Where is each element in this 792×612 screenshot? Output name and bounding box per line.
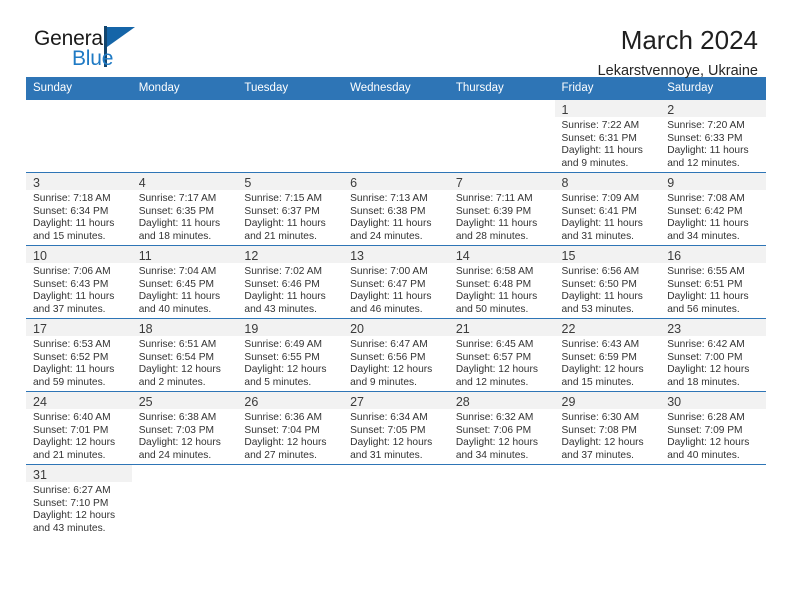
day-number-band (26, 100, 132, 117)
logo-text-blue: Blue (72, 48, 113, 69)
day-number: 25 (139, 395, 153, 409)
day-cell-content: 3Sunrise: 7:18 AMSunset: 6:34 PMDaylight… (26, 173, 132, 245)
day-cell-content: 6Sunrise: 7:13 AMSunset: 6:38 PMDaylight… (343, 173, 449, 245)
calendar-day-cell[interactable]: 14Sunrise: 6:58 AMSunset: 6:48 PMDayligh… (449, 246, 555, 319)
sunset-text: Sunset: 6:48 PM (456, 279, 551, 292)
day-info: Sunrise: 7:06 AMSunset: 6:43 PMDaylight:… (26, 263, 132, 316)
day-number: 1 (562, 103, 569, 117)
sunrise-text: Sunrise: 6:45 AM (456, 339, 551, 352)
calendar-page: General Blue March 2024 Lekarstvennoye, … (0, 0, 792, 612)
weekday-header-row: Sunday Monday Tuesday Wednesday Thursday… (26, 77, 766, 100)
daylight-text-line2: and 50 minutes. (456, 304, 551, 317)
daylight-text-line1: Daylight: 12 hours (667, 437, 762, 450)
day-cell-content: 12Sunrise: 7:02 AMSunset: 6:46 PMDayligh… (237, 246, 343, 318)
sunrise-text: Sunrise: 6:53 AM (33, 339, 128, 352)
sunrise-text: Sunrise: 7:13 AM (350, 193, 445, 206)
day-number: 22 (562, 322, 576, 336)
sunrise-text: Sunrise: 7:08 AM (667, 193, 762, 206)
day-number-band: 6 (343, 173, 449, 190)
daylight-text-line1: Daylight: 11 hours (139, 218, 234, 231)
daylight-text-line1: Daylight: 12 hours (244, 364, 339, 377)
sunset-text: Sunset: 6:41 PM (562, 206, 657, 219)
calendar-empty-cell (449, 100, 555, 173)
sunrise-text: Sunrise: 6:49 AM (244, 339, 339, 352)
daylight-text-line2: and 24 minutes. (139, 450, 234, 463)
day-info: Sunrise: 6:32 AMSunset: 7:06 PMDaylight:… (449, 409, 555, 462)
daylight-text-line2: and 40 minutes. (139, 304, 234, 317)
sunrise-text: Sunrise: 6:56 AM (562, 266, 657, 279)
day-number-band: 5 (237, 173, 343, 190)
day-cell-content: 28Sunrise: 6:32 AMSunset: 7:06 PMDayligh… (449, 392, 555, 464)
sunrise-text: Sunrise: 6:40 AM (33, 412, 128, 425)
sunset-text: Sunset: 7:04 PM (244, 425, 339, 438)
day-info: Sunrise: 7:09 AMSunset: 6:41 PMDaylight:… (555, 190, 661, 243)
day-number-band: 23 (660, 319, 766, 336)
day-info: Sunrise: 6:42 AMSunset: 7:00 PMDaylight:… (660, 336, 766, 389)
calendar-day-cell[interactable]: 5Sunrise: 7:15 AMSunset: 6:37 PMDaylight… (237, 173, 343, 246)
day-number: 26 (244, 395, 258, 409)
day-cell-content (26, 100, 132, 172)
day-info: Sunrise: 6:56 AMSunset: 6:50 PMDaylight:… (555, 263, 661, 316)
sunset-text: Sunset: 6:33 PM (667, 133, 762, 146)
day-number-band: 3 (26, 173, 132, 190)
day-cell-content: 10Sunrise: 7:06 AMSunset: 6:43 PMDayligh… (26, 246, 132, 318)
sunrise-text: Sunrise: 7:18 AM (33, 193, 128, 206)
day-cell-content: 30Sunrise: 6:28 AMSunset: 7:09 PMDayligh… (660, 392, 766, 464)
calendar-day-cell[interactable]: 20Sunrise: 6:47 AMSunset: 6:56 PMDayligh… (343, 319, 449, 392)
sunset-text: Sunset: 7:03 PM (139, 425, 234, 438)
daylight-text-line2: and 18 minutes. (667, 377, 762, 390)
day-cell-content: 15Sunrise: 6:56 AMSunset: 6:50 PMDayligh… (555, 246, 661, 318)
day-cell-content (343, 465, 449, 537)
day-cell-content: 22Sunrise: 6:43 AMSunset: 6:59 PMDayligh… (555, 319, 661, 391)
day-number: 10 (33, 249, 47, 263)
daylight-text-line1: Daylight: 11 hours (139, 291, 234, 304)
sunset-text: Sunset: 6:56 PM (350, 352, 445, 365)
sunset-text: Sunset: 7:10 PM (33, 498, 128, 511)
day-cell-content: 16Sunrise: 6:55 AMSunset: 6:51 PMDayligh… (660, 246, 766, 318)
daylight-text-line2: and 43 minutes. (244, 304, 339, 317)
calendar-day-cell[interactable]: 2Sunrise: 7:20 AMSunset: 6:33 PMDaylight… (660, 100, 766, 173)
calendar-day-cell[interactable]: 22Sunrise: 6:43 AMSunset: 6:59 PMDayligh… (555, 319, 661, 392)
daylight-text-line1: Daylight: 12 hours (456, 437, 551, 450)
daylight-text-line1: Daylight: 11 hours (33, 218, 128, 231)
day-info: Sunrise: 7:04 AMSunset: 6:45 PMDaylight:… (132, 263, 238, 316)
day-info: Sunrise: 7:13 AMSunset: 6:38 PMDaylight:… (343, 190, 449, 243)
calendar-empty-cell (660, 465, 766, 538)
day-number-band: 29 (555, 392, 661, 409)
day-number-band: 25 (132, 392, 238, 409)
day-cell-content: 18Sunrise: 6:51 AMSunset: 6:54 PMDayligh… (132, 319, 238, 391)
calendar-day-cell[interactable]: 9Sunrise: 7:08 AMSunset: 6:42 PMDaylight… (660, 173, 766, 246)
page-header: General Blue March 2024 Lekarstvennoye, … (26, 0, 766, 74)
daylight-text-line1: Daylight: 12 hours (562, 437, 657, 450)
calendar-day-cell[interactable]: 1Sunrise: 7:22 AMSunset: 6:31 PMDaylight… (555, 100, 661, 173)
calendar-empty-cell (555, 465, 661, 538)
daylight-text-line2: and 27 minutes. (244, 450, 339, 463)
sunset-text: Sunset: 6:51 PM (667, 279, 762, 292)
day-number: 23 (667, 322, 681, 336)
day-number-band (555, 465, 661, 482)
day-number: 9 (667, 176, 674, 190)
day-number-band (237, 465, 343, 482)
sunset-text: Sunset: 6:37 PM (244, 206, 339, 219)
day-number-band: 31 (26, 465, 132, 482)
calendar-day-cell[interactable]: 11Sunrise: 7:04 AMSunset: 6:45 PMDayligh… (132, 246, 238, 319)
daylight-text-line1: Daylight: 11 hours (667, 291, 762, 304)
daylight-text-line1: Daylight: 12 hours (456, 364, 551, 377)
day-number-band (132, 100, 238, 117)
daylight-text-line1: Daylight: 12 hours (244, 437, 339, 450)
day-cell-content: 24Sunrise: 6:40 AMSunset: 7:01 PMDayligh… (26, 392, 132, 464)
day-cell-content: 11Sunrise: 7:04 AMSunset: 6:45 PMDayligh… (132, 246, 238, 318)
daylight-text-line2: and 18 minutes. (139, 231, 234, 244)
day-cell-content (449, 465, 555, 537)
sunrise-text: Sunrise: 6:36 AM (244, 412, 339, 425)
daylight-text-line2: and 37 minutes. (33, 304, 128, 317)
day-info: Sunrise: 7:17 AMSunset: 6:35 PMDaylight:… (132, 190, 238, 243)
calendar-day-cell[interactable]: 21Sunrise: 6:45 AMSunset: 6:57 PMDayligh… (449, 319, 555, 392)
sunrise-text: Sunrise: 6:28 AM (667, 412, 762, 425)
weekday-header-tuesday: Tuesday (237, 77, 343, 100)
day-number-band: 24 (26, 392, 132, 409)
daylight-text-line2: and 21 minutes. (33, 450, 128, 463)
day-number: 16 (667, 249, 681, 263)
day-info: Sunrise: 6:30 AMSunset: 7:08 PMDaylight:… (555, 409, 661, 462)
calendar-day-cell[interactable]: 31Sunrise: 6:27 AMSunset: 7:10 PMDayligh… (26, 465, 132, 538)
daylight-text-line2: and 15 minutes. (33, 231, 128, 244)
daylight-text-line1: Daylight: 12 hours (562, 364, 657, 377)
day-cell-content: 5Sunrise: 7:15 AMSunset: 6:37 PMDaylight… (237, 173, 343, 245)
calendar-day-cell[interactable]: 10Sunrise: 7:06 AMSunset: 6:43 PMDayligh… (26, 246, 132, 319)
calendar-day-cell[interactable]: 7Sunrise: 7:11 AMSunset: 6:39 PMDaylight… (449, 173, 555, 246)
sunrise-text: Sunrise: 7:20 AM (667, 120, 762, 133)
daylight-text-line2: and 21 minutes. (244, 231, 339, 244)
calendar-day-cell[interactable]: 29Sunrise: 6:30 AMSunset: 7:08 PMDayligh… (555, 392, 661, 465)
calendar-week-row: 10Sunrise: 7:06 AMSunset: 6:43 PMDayligh… (26, 246, 766, 319)
day-cell-content: 29Sunrise: 6:30 AMSunset: 7:08 PMDayligh… (555, 392, 661, 464)
sunset-text: Sunset: 7:00 PM (667, 352, 762, 365)
day-number-band: 13 (343, 246, 449, 263)
calendar-day-cell[interactable]: 18Sunrise: 6:51 AMSunset: 6:54 PMDayligh… (132, 319, 238, 392)
day-number: 14 (456, 249, 470, 263)
sunset-text: Sunset: 7:06 PM (456, 425, 551, 438)
day-number-band: 20 (343, 319, 449, 336)
daylight-text-line1: Daylight: 11 hours (562, 291, 657, 304)
sunrise-text: Sunrise: 6:27 AM (33, 485, 128, 498)
sunset-text: Sunset: 6:45 PM (139, 279, 234, 292)
day-number-band: 28 (449, 392, 555, 409)
daylight-text-line2: and 12 minutes. (667, 158, 762, 171)
day-info: Sunrise: 6:28 AMSunset: 7:09 PMDaylight:… (660, 409, 766, 462)
calendar-empty-cell (449, 465, 555, 538)
day-number-band: 12 (237, 246, 343, 263)
day-number-band: 19 (237, 319, 343, 336)
sunrise-text: Sunrise: 7:00 AM (350, 266, 445, 279)
day-number-band (660, 465, 766, 482)
daylight-text-line1: Daylight: 12 hours (139, 364, 234, 377)
daylight-text-line2: and 15 minutes. (562, 377, 657, 390)
day-number-band: 22 (555, 319, 661, 336)
sunrise-text: Sunrise: 7:17 AM (139, 193, 234, 206)
sunrise-text: Sunrise: 7:11 AM (456, 193, 551, 206)
sunrise-text: Sunrise: 6:58 AM (456, 266, 551, 279)
sunset-text: Sunset: 6:59 PM (562, 352, 657, 365)
day-number: 2 (667, 103, 674, 117)
sunset-text: Sunset: 6:43 PM (33, 279, 128, 292)
daylight-text-line1: Daylight: 11 hours (244, 291, 339, 304)
day-info: Sunrise: 7:18 AMSunset: 6:34 PMDaylight:… (26, 190, 132, 243)
daylight-text-line1: Daylight: 11 hours (33, 364, 128, 377)
day-info: Sunrise: 7:11 AMSunset: 6:39 PMDaylight:… (449, 190, 555, 243)
sunset-text: Sunset: 6:39 PM (456, 206, 551, 219)
page-subtitle: Lekarstvennoye, Ukraine (598, 63, 758, 80)
weekday-header-thursday: Thursday (449, 77, 555, 100)
day-cell-content: 23Sunrise: 6:42 AMSunset: 7:00 PMDayligh… (660, 319, 766, 391)
daylight-text-line2: and 46 minutes. (350, 304, 445, 317)
calendar-day-cell[interactable]: 24Sunrise: 6:40 AMSunset: 7:01 PMDayligh… (26, 392, 132, 465)
daylight-text-line2: and 2 minutes. (139, 377, 234, 390)
day-info: Sunrise: 6:58 AMSunset: 6:48 PMDaylight:… (449, 263, 555, 316)
weekday-header-monday: Monday (132, 77, 238, 100)
daylight-text-line2: and 43 minutes. (33, 523, 128, 536)
calendar-day-cell[interactable]: 4Sunrise: 7:17 AMSunset: 6:35 PMDaylight… (132, 173, 238, 246)
sunset-text: Sunset: 6:38 PM (350, 206, 445, 219)
calendar-week-row: 1Sunrise: 7:22 AMSunset: 6:31 PMDaylight… (26, 100, 766, 173)
day-number: 24 (33, 395, 47, 409)
sunset-text: Sunset: 6:50 PM (562, 279, 657, 292)
sunset-text: Sunset: 7:05 PM (350, 425, 445, 438)
daylight-text-line2: and 12 minutes. (456, 377, 551, 390)
sunrise-text: Sunrise: 6:34 AM (350, 412, 445, 425)
sunset-text: Sunset: 6:54 PM (139, 352, 234, 365)
sunrise-text: Sunrise: 6:30 AM (562, 412, 657, 425)
calendar-day-cell[interactable]: 15Sunrise: 6:56 AMSunset: 6:50 PMDayligh… (555, 246, 661, 319)
day-cell-content: 19Sunrise: 6:49 AMSunset: 6:55 PMDayligh… (237, 319, 343, 391)
blue-flag-icon (107, 27, 135, 47)
day-info: Sunrise: 6:51 AMSunset: 6:54 PMDaylight:… (132, 336, 238, 389)
day-number: 4 (139, 176, 146, 190)
day-number-band: 30 (660, 392, 766, 409)
day-cell-content: 27Sunrise: 6:34 AMSunset: 7:05 PMDayligh… (343, 392, 449, 464)
day-number-band: 11 (132, 246, 238, 263)
calendar-day-cell[interactable]: 25Sunrise: 6:38 AMSunset: 7:03 PMDayligh… (132, 392, 238, 465)
sunset-text: Sunset: 6:34 PM (33, 206, 128, 219)
day-number: 6 (350, 176, 357, 190)
daylight-text-line2: and 34 minutes. (456, 450, 551, 463)
day-info: Sunrise: 6:49 AMSunset: 6:55 PMDaylight:… (237, 336, 343, 389)
calendar-day-cell[interactable]: 28Sunrise: 6:32 AMSunset: 7:06 PMDayligh… (449, 392, 555, 465)
day-info: Sunrise: 7:08 AMSunset: 6:42 PMDaylight:… (660, 190, 766, 243)
day-number: 20 (350, 322, 364, 336)
calendar-day-cell[interactable]: 8Sunrise: 7:09 AMSunset: 6:41 PMDaylight… (555, 173, 661, 246)
day-number: 19 (244, 322, 258, 336)
daylight-text-line1: Daylight: 12 hours (33, 437, 128, 450)
day-info: Sunrise: 6:40 AMSunset: 7:01 PMDaylight:… (26, 409, 132, 462)
sunset-text: Sunset: 6:57 PM (456, 352, 551, 365)
daylight-text-line1: Daylight: 11 hours (350, 291, 445, 304)
day-number: 5 (244, 176, 251, 190)
day-number: 18 (139, 322, 153, 336)
daylight-text-line1: Daylight: 11 hours (667, 145, 762, 158)
day-cell-content: 26Sunrise: 6:36 AMSunset: 7:04 PMDayligh… (237, 392, 343, 464)
calendar-day-cell[interactable]: 13Sunrise: 7:00 AMSunset: 6:47 PMDayligh… (343, 246, 449, 319)
day-number-band: 27 (343, 392, 449, 409)
day-number-band: 4 (132, 173, 238, 190)
day-number-band: 15 (555, 246, 661, 263)
day-number-band: 7 (449, 173, 555, 190)
calendar-day-cell[interactable]: 12Sunrise: 7:02 AMSunset: 6:46 PMDayligh… (237, 246, 343, 319)
day-cell-content: 8Sunrise: 7:09 AMSunset: 6:41 PMDaylight… (555, 173, 661, 245)
daylight-text-line1: Daylight: 12 hours (667, 364, 762, 377)
calendar-week-row: 24Sunrise: 6:40 AMSunset: 7:01 PMDayligh… (26, 392, 766, 465)
day-cell-content (660, 465, 766, 537)
day-number: 27 (350, 395, 364, 409)
sunset-text: Sunset: 7:09 PM (667, 425, 762, 438)
day-number: 8 (562, 176, 569, 190)
calendar-day-cell[interactable]: 27Sunrise: 6:34 AMSunset: 7:05 PMDayligh… (343, 392, 449, 465)
day-cell-content (449, 100, 555, 172)
day-cell-content: 7Sunrise: 7:11 AMSunset: 6:39 PMDaylight… (449, 173, 555, 245)
calendar-empty-cell (237, 100, 343, 173)
weekday-header-friday: Friday (555, 77, 661, 100)
calendar-day-cell[interactable]: 19Sunrise: 6:49 AMSunset: 6:55 PMDayligh… (237, 319, 343, 392)
day-info: Sunrise: 6:53 AMSunset: 6:52 PMDaylight:… (26, 336, 132, 389)
day-number: 17 (33, 322, 47, 336)
sunrise-text: Sunrise: 6:42 AM (667, 339, 762, 352)
calendar-day-cell[interactable]: 3Sunrise: 7:18 AMSunset: 6:34 PMDaylight… (26, 173, 132, 246)
day-number: 13 (350, 249, 364, 263)
day-number-band: 10 (26, 246, 132, 263)
sunrise-text: Sunrise: 7:22 AM (562, 120, 657, 133)
sunset-text: Sunset: 6:35 PM (139, 206, 234, 219)
calendar-day-cell[interactable]: 6Sunrise: 7:13 AMSunset: 6:38 PMDaylight… (343, 173, 449, 246)
daylight-text-line1: Daylight: 12 hours (33, 510, 128, 523)
calendar-day-cell[interactable]: 30Sunrise: 6:28 AMSunset: 7:09 PMDayligh… (660, 392, 766, 465)
daylight-text-line2: and 34 minutes. (667, 231, 762, 244)
day-cell-content: 31Sunrise: 6:27 AMSunset: 7:10 PMDayligh… (26, 465, 132, 537)
calendar-day-cell[interactable]: 26Sunrise: 6:36 AMSunset: 7:04 PMDayligh… (237, 392, 343, 465)
daylight-text-line2: and 28 minutes. (456, 231, 551, 244)
sunrise-text: Sunrise: 6:51 AM (139, 339, 234, 352)
daylight-text-line2: and 59 minutes. (33, 377, 128, 390)
sunrise-text: Sunrise: 6:55 AM (667, 266, 762, 279)
daylight-text-line1: Daylight: 11 hours (562, 218, 657, 231)
calendar-week-row: 17Sunrise: 6:53 AMSunset: 6:52 PMDayligh… (26, 319, 766, 392)
calendar-week-row: 31Sunrise: 6:27 AMSunset: 7:10 PMDayligh… (26, 465, 766, 538)
calendar-day-cell[interactable]: 23Sunrise: 6:42 AMSunset: 7:00 PMDayligh… (660, 319, 766, 392)
day-number-band: 16 (660, 246, 766, 263)
day-info: Sunrise: 6:47 AMSunset: 6:56 PMDaylight:… (343, 336, 449, 389)
sunrise-text: Sunrise: 6:38 AM (139, 412, 234, 425)
sunset-text: Sunset: 6:55 PM (244, 352, 339, 365)
day-cell-content: 14Sunrise: 6:58 AMSunset: 6:48 PMDayligh… (449, 246, 555, 318)
day-cell-content: 21Sunrise: 6:45 AMSunset: 6:57 PMDayligh… (449, 319, 555, 391)
weekday-header-saturday: Saturday (660, 77, 766, 100)
calendar-day-cell[interactable]: 17Sunrise: 6:53 AMSunset: 6:52 PMDayligh… (26, 319, 132, 392)
day-cell-content: 17Sunrise: 6:53 AMSunset: 6:52 PMDayligh… (26, 319, 132, 391)
sunset-text: Sunset: 6:47 PM (350, 279, 445, 292)
sunset-text: Sunset: 7:01 PM (33, 425, 128, 438)
day-cell-content (132, 465, 238, 537)
sunrise-text: Sunrise: 7:04 AM (139, 266, 234, 279)
daylight-text-line1: Daylight: 12 hours (350, 437, 445, 450)
sunrise-text: Sunrise: 6:43 AM (562, 339, 657, 352)
day-number: 31 (33, 468, 47, 482)
daylight-text-line1: Daylight: 11 hours (456, 218, 551, 231)
day-number-band: 14 (449, 246, 555, 263)
daylight-text-line1: Daylight: 11 hours (456, 291, 551, 304)
sunrise-text: Sunrise: 7:15 AM (244, 193, 339, 206)
title-block: March 2024 Lekarstvennoye, Ukraine (598, 26, 766, 80)
daylight-text-line2: and 9 minutes. (350, 377, 445, 390)
day-info: Sunrise: 6:43 AMSunset: 6:59 PMDaylight:… (555, 336, 661, 389)
day-info: Sunrise: 7:22 AMSunset: 6:31 PMDaylight:… (555, 117, 661, 170)
daylight-text-line2: and 31 minutes. (350, 450, 445, 463)
calendar-empty-cell (132, 465, 238, 538)
day-info: Sunrise: 6:34 AMSunset: 7:05 PMDaylight:… (343, 409, 449, 462)
daylight-text-line1: Daylight: 11 hours (244, 218, 339, 231)
day-number: 29 (562, 395, 576, 409)
daylight-text-line1: Daylight: 11 hours (33, 291, 128, 304)
weekday-header-sunday: Sunday (26, 77, 132, 100)
day-number: 15 (562, 249, 576, 263)
daylight-text-line2: and 56 minutes. (667, 304, 762, 317)
daylight-text-line1: Daylight: 11 hours (562, 145, 657, 158)
day-number: 28 (456, 395, 470, 409)
day-number-band (237, 100, 343, 117)
day-info: Sunrise: 6:55 AMSunset: 6:51 PMDaylight:… (660, 263, 766, 316)
calendar-week-row: 3Sunrise: 7:18 AMSunset: 6:34 PMDaylight… (26, 173, 766, 246)
day-cell-content (237, 465, 343, 537)
day-cell-content: 9Sunrise: 7:08 AMSunset: 6:42 PMDaylight… (660, 173, 766, 245)
daylight-text-line2: and 9 minutes. (562, 158, 657, 171)
sunrise-text: Sunrise: 6:47 AM (350, 339, 445, 352)
general-blue-logo[interactable]: General Blue (34, 26, 154, 76)
day-info: Sunrise: 7:02 AMSunset: 6:46 PMDaylight:… (237, 263, 343, 316)
calendar-body: 1Sunrise: 7:22 AMSunset: 6:31 PMDaylight… (26, 100, 766, 538)
calendar-empty-cell (343, 465, 449, 538)
logo-text-general: General (34, 28, 107, 49)
calendar-empty-cell (237, 465, 343, 538)
daylight-text-line2: and 37 minutes. (562, 450, 657, 463)
day-info: Sunrise: 7:00 AMSunset: 6:47 PMDaylight:… (343, 263, 449, 316)
calendar-day-cell[interactable]: 16Sunrise: 6:55 AMSunset: 6:51 PMDayligh… (660, 246, 766, 319)
calendar-empty-cell (343, 100, 449, 173)
daylight-text-line2: and 40 minutes. (667, 450, 762, 463)
day-info: Sunrise: 6:36 AMSunset: 7:04 PMDaylight:… (237, 409, 343, 462)
day-number: 12 (244, 249, 258, 263)
sunrise-text: Sunrise: 7:09 AM (562, 193, 657, 206)
sunset-text: Sunset: 6:42 PM (667, 206, 762, 219)
day-number-band: 1 (555, 100, 661, 117)
sunrise-text: Sunrise: 6:32 AM (456, 412, 551, 425)
sunset-text: Sunset: 6:46 PM (244, 279, 339, 292)
daylight-text-line1: Daylight: 12 hours (139, 437, 234, 450)
day-number-band: 8 (555, 173, 661, 190)
calendar-empty-cell (132, 100, 238, 173)
day-cell-content: 1Sunrise: 7:22 AMSunset: 6:31 PMDaylight… (555, 100, 661, 172)
day-number: 7 (456, 176, 463, 190)
day-number-band (343, 465, 449, 482)
day-number: 3 (33, 176, 40, 190)
sunset-text: Sunset: 7:08 PM (562, 425, 657, 438)
day-cell-content: 20Sunrise: 6:47 AMSunset: 6:56 PMDayligh… (343, 319, 449, 391)
day-number: 21 (456, 322, 470, 336)
daylight-text-line1: Daylight: 11 hours (350, 218, 445, 231)
daylight-text-line1: Daylight: 11 hours (667, 218, 762, 231)
day-cell-content (237, 100, 343, 172)
